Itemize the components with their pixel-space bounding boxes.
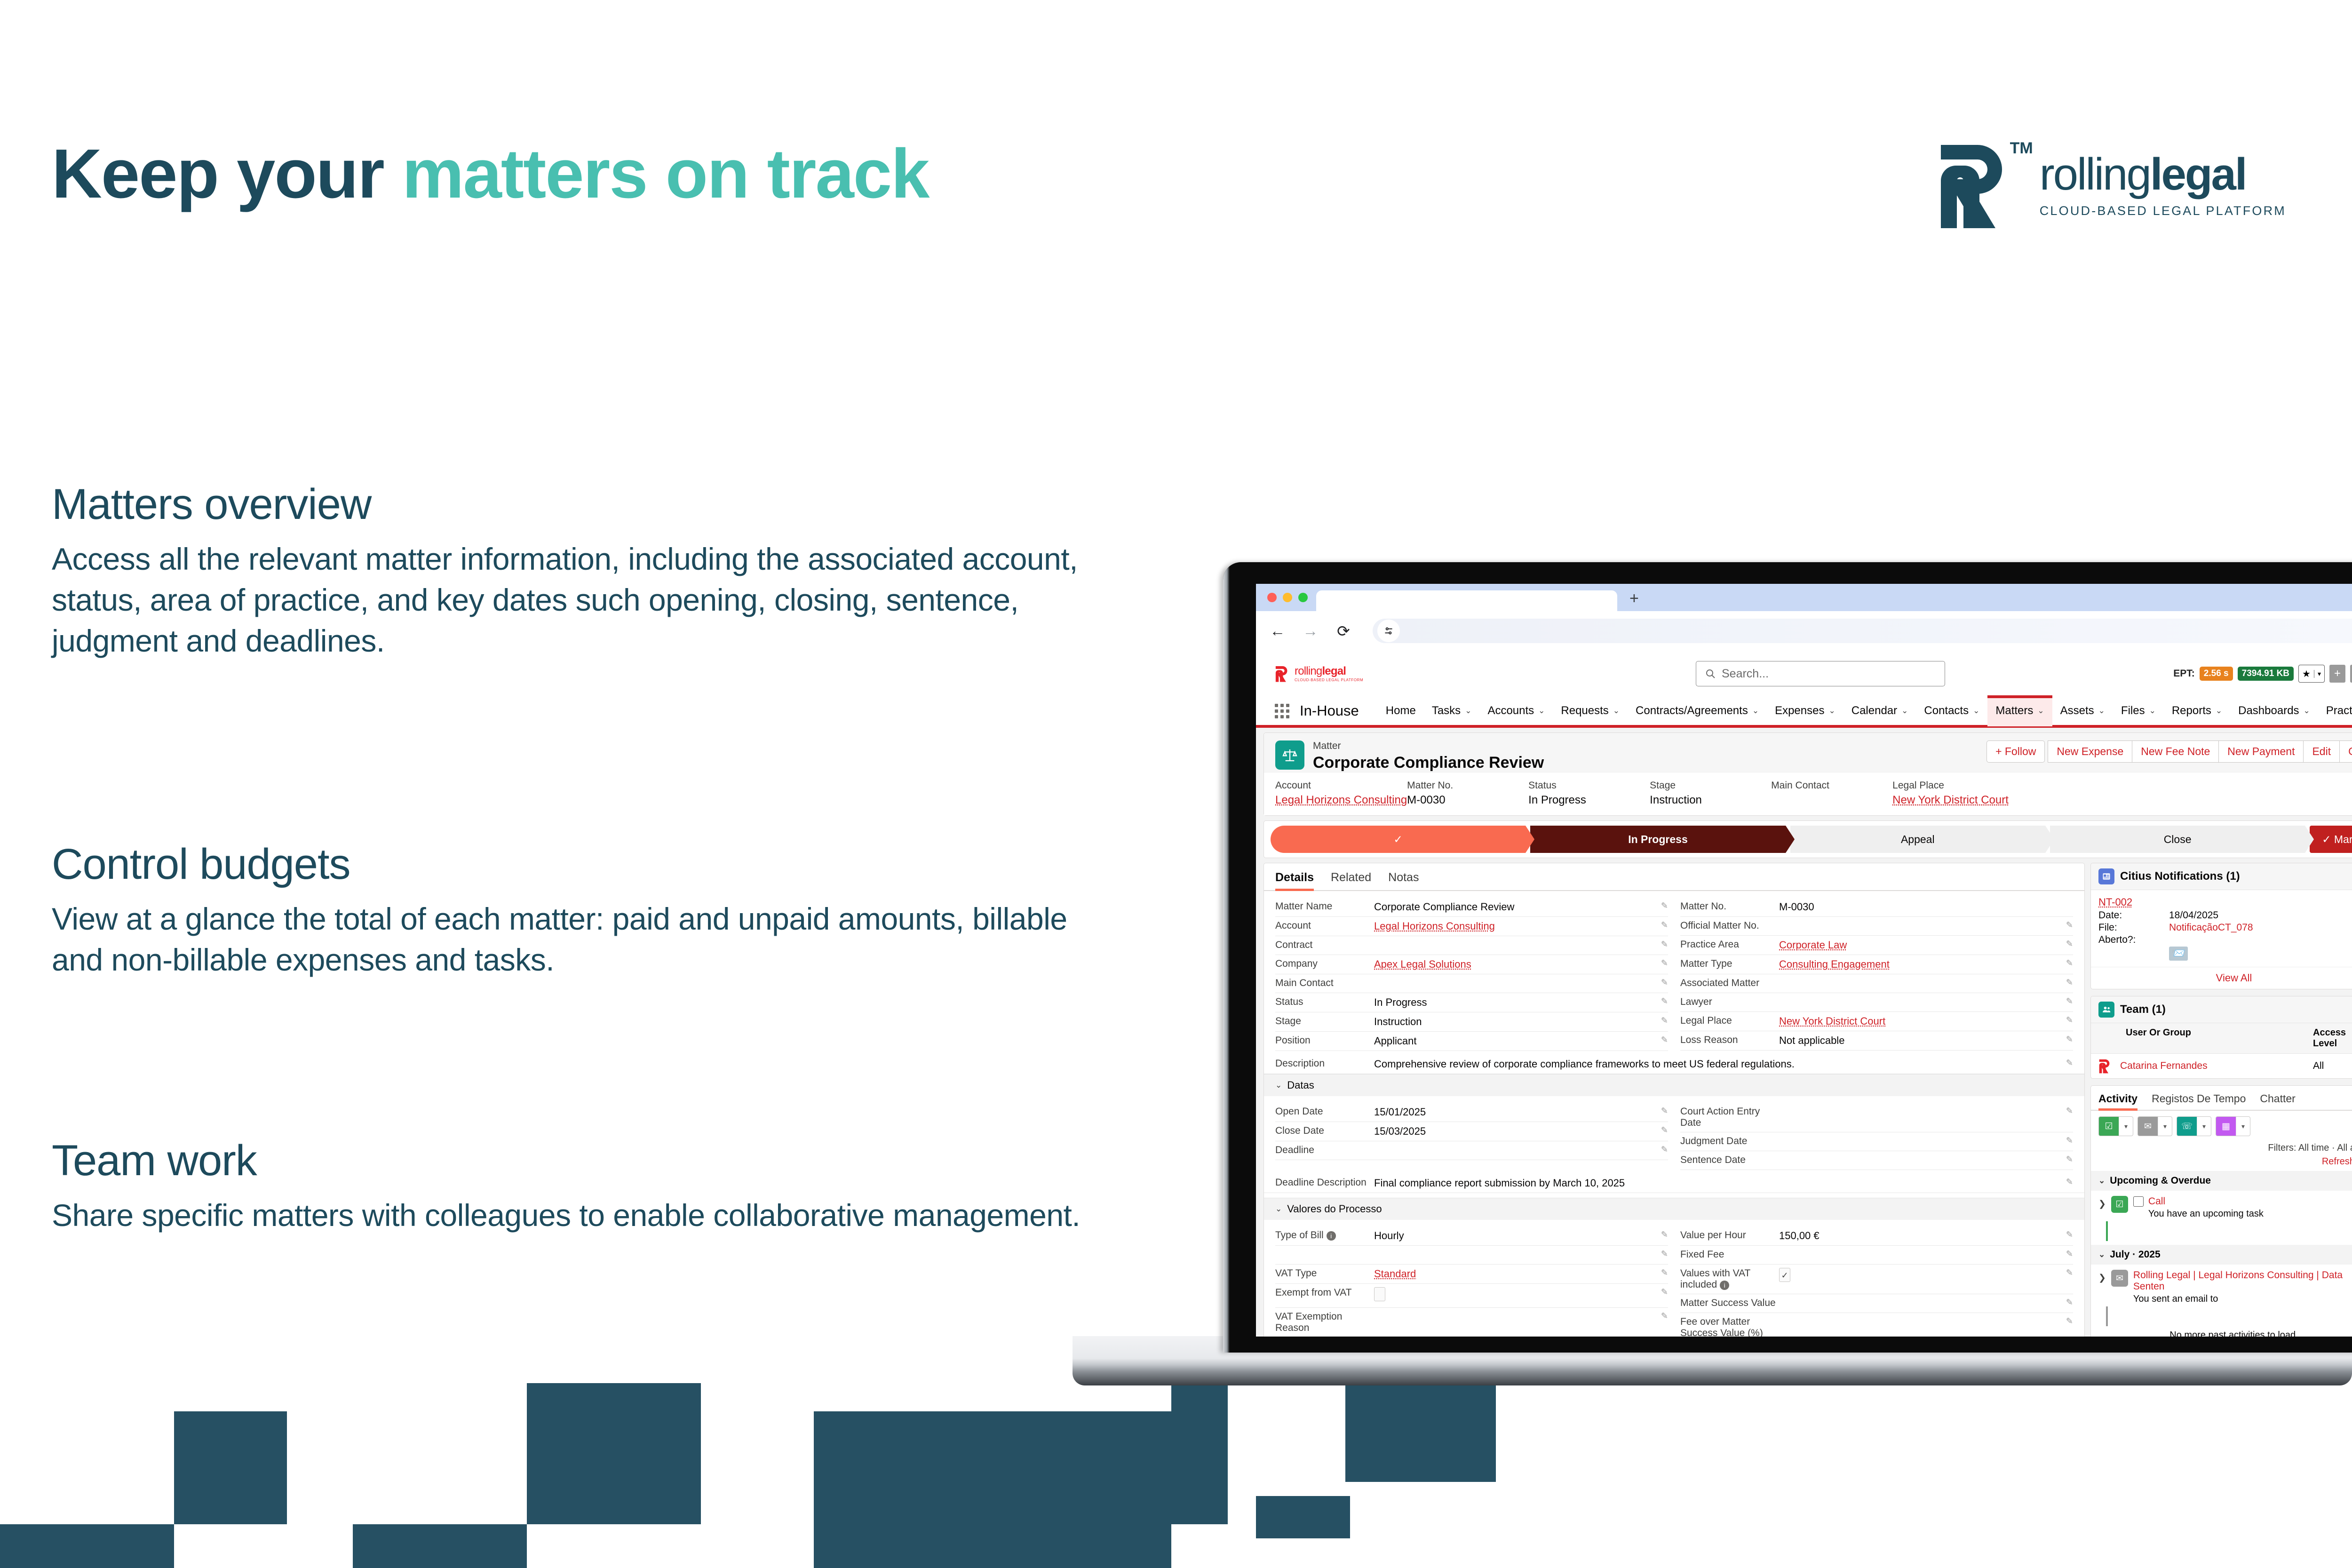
activity-title[interactable]: Call <box>2148 1196 2165 1207</box>
logo-word-bold: legal <box>2150 149 2246 199</box>
field-label: VAT Type <box>1275 1268 1374 1279</box>
nav-item-label: Requests <box>1561 704 1608 717</box>
citius-notifications-card: Citius Notifications (1) NT-002 Date:18/… <box>2090 863 2352 989</box>
ept-time-badge: 2.56 s <box>2200 667 2233 681</box>
activity-tab-activity[interactable]: Activity <box>2098 1092 2137 1110</box>
nav-item-label: Tasks <box>1432 704 1461 717</box>
path-step-appeal[interactable]: Appeal <box>1790 826 2045 853</box>
feature-block-control-budgets: Control budgets View at a glance the tot… <box>52 840 1101 980</box>
field-row: Matter No.M-0030 <box>1680 898 2073 917</box>
back-icon[interactable]: ← <box>1269 622 1286 640</box>
tab-details[interactable]: Details <box>1275 871 1314 890</box>
nav-item-label: Accounts <box>1487 704 1534 717</box>
edit-pencil-icon[interactable]: ✎ <box>2064 1058 2073 1070</box>
field-row: Matter Success Value✎ <box>1680 1294 2073 1313</box>
laptop-screen: + ← → ⟳ <box>1223 562 2352 1353</box>
header-field: StageInstruction <box>1650 780 1771 807</box>
activity-list-item[interactable]: ❯ ☑ Call You have an upcoming task <box>2091 1191 2352 1221</box>
description-row: Description Comprehensive review of corp… <box>1264 1055 2084 1074</box>
info-icon[interactable]: i <box>1720 1281 1729 1290</box>
edit-pencil-icon[interactable]: ✎ <box>1659 901 1668 911</box>
activity-timeline-line <box>2106 1221 2108 1241</box>
field-label: Matter Success Value <box>1680 1297 1779 1309</box>
nav-item-matters[interactable]: Matters⌄ <box>1987 695 2052 726</box>
header-field-label: Main Contact <box>1771 780 1892 791</box>
url-input[interactable] <box>1373 619 2352 643</box>
global-search-input[interactable]: Search... <box>1696 661 1945 686</box>
activity-subtitle: You have an upcoming task <box>2148 1209 2352 1219</box>
feature-block-matters-overview: Matters overview Access all the relevant… <box>52 480 1101 661</box>
citius-view-all-link[interactable]: View All <box>2091 967 2352 989</box>
section-header-values[interactable]: ⌄ Valores do Processo <box>1264 1198 2084 1220</box>
path-step--[interactable]: ✓ <box>1271 826 1526 853</box>
browser-urlbar: ← → ⟳ <box>1256 611 2352 651</box>
team-card: Team (1) User Or Group Access Level Cata… <box>2090 996 2352 1079</box>
app-logo-word-bold: legal <box>1322 665 1346 677</box>
nav-item-contacts[interactable]: Contacts⌄ <box>1916 695 1987 726</box>
field-value: In Progress <box>1374 996 1659 1009</box>
app-logo-tagline: CLOUD-BASED LEGAL PLATFORM <box>1295 678 1363 682</box>
nav-item-home[interactable]: Home <box>1378 695 1424 726</box>
action-new-fee-note[interactable]: New Fee Note <box>2132 740 2218 763</box>
dates-right-column: Court Action Entry Date✎Judgment Date✎Se… <box>1680 1103 2073 1170</box>
close-window-dot[interactable] <box>1267 593 1277 602</box>
field-checkbox[interactable]: ✓ <box>1779 1268 1790 1282</box>
action-new-payment[interactable]: New Payment <box>2218 740 2303 763</box>
edit-pencil-icon[interactable]: ✎ <box>1659 1035 1668 1045</box>
edit-pencil-icon[interactable]: ✎ <box>1659 1145 1668 1154</box>
field-label: Close Date <box>1275 1125 1374 1137</box>
feature-body: Share specific matters with colleagues t… <box>52 1195 1101 1236</box>
new-task-button[interactable]: ☑▾ <box>2098 1116 2133 1136</box>
field-row: ✎ <box>1275 1246 1668 1265</box>
logo-word-light: rolling <box>2040 149 2150 199</box>
edit-pencil-icon[interactable]: ✎ <box>1659 1268 1668 1278</box>
chevron-down-icon[interactable]: ▾ <box>2119 1116 2133 1136</box>
field-label: Value per Hour <box>1680 1230 1779 1241</box>
edit-pencil-icon[interactable]: ✎ <box>2064 1249 2073 1259</box>
edit-pencil-icon[interactable]: ✎ <box>1659 958 1668 968</box>
action-edit[interactable]: Edit <box>2303 740 2339 763</box>
chevron-down-icon[interactable]: ⌄ <box>1538 706 1545 716</box>
app-navigation: In-House HomeTasks⌄Accounts⌄Requests⌄Con… <box>1256 697 2352 728</box>
task-checkbox[interactable] <box>2133 1196 2144 1207</box>
field-value[interactable]: New York District Court <box>1779 1015 2064 1027</box>
edit-pencil-icon[interactable]: ✎ <box>2064 1015 2073 1025</box>
field-row: Lawyer✎ <box>1680 993 2073 1012</box>
header-field-label: Matter No. <box>1407 780 1528 791</box>
app-logo[interactable]: rollinglegal CLOUD-BASED LEGAL PLATFORM <box>1275 665 1363 682</box>
activity-refresh-link[interactable]: Refresh · E <box>2091 1154 2352 1171</box>
minimize-window-dot[interactable] <box>1283 593 1292 602</box>
edit-pencil-icon[interactable]: ✎ <box>1659 1016 1668 1026</box>
decor-square-4 <box>527 1383 701 1524</box>
notification-key: File: <box>2098 922 2169 933</box>
tab-related[interactable]: Related <box>1331 871 1371 890</box>
edit-pencil-icon[interactable]: ✎ <box>2064 939 2073 949</box>
field-value[interactable]: Legal Horizons Consulting <box>1374 920 1659 932</box>
activity-tab-chatter[interactable]: Chatter <box>2260 1092 2295 1110</box>
maximize-window-dot[interactable] <box>1298 593 1308 602</box>
activity-group-title: Upcoming & Overdue <box>2110 1175 2211 1186</box>
team-icon <box>2098 1002 2114 1018</box>
header-field: Legal PlaceNew York District Court <box>1892 780 2014 807</box>
new-event-button[interactable]: ▦▾ <box>2216 1116 2250 1136</box>
field-row: PositionApplicant✎ <box>1275 1032 1668 1051</box>
activity-title[interactable]: Rolling Legal | Legal Horizons Consultin… <box>2133 1270 2352 1292</box>
activity-list-item[interactable]: ❯ ✉ Rolling Legal | Legal Horizons Consu… <box>2091 1265 2352 1306</box>
field-label: Court Action Entry Date <box>1680 1106 1779 1129</box>
headline-teal: matters on track <box>402 135 929 213</box>
field-row: Practice AreaCorporate Law✎ <box>1680 936 2073 955</box>
edit-pencil-icon[interactable]: ✎ <box>2064 920 2073 930</box>
team-col-access: Access Level <box>2313 1027 2352 1049</box>
activity-tab-registos-de-tempo[interactable]: Registos De Tempo <box>2152 1092 2246 1110</box>
decor-square-7 <box>1345 1383 1496 1482</box>
notification-icon <box>2098 868 2114 884</box>
nav-item-requests[interactable]: Requests⌄ <box>1553 695 1628 726</box>
record-sidebar: Citius Notifications (1) NT-002 Date:18/… <box>2090 863 2352 1337</box>
logo-tagline: CLOUD-BASED LEGAL PLATFORM <box>2040 205 2286 217</box>
field-label: Legal Place <box>1680 1015 1779 1027</box>
nav-item-label: Calendar <box>1851 704 1897 717</box>
chevron-down-icon[interactable]: ⌄ <box>2216 706 2222 716</box>
field-label: Matter Name <box>1275 901 1374 912</box>
description-value: Comprehensive review of corporate compli… <box>1374 1058 2064 1070</box>
field-row: Exempt from VAT✎ <box>1275 1284 1668 1308</box>
field-row: StatusIn Progress✎ <box>1275 993 1668 1012</box>
nav-item-practice-areas[interactable]: Practice Areas⌄ <box>2318 695 2352 726</box>
chevron-down-icon[interactable]: ⌄ <box>2098 706 2105 716</box>
field-row: VAT Exemption Reason✎ <box>1275 1308 1668 1337</box>
new-tab-icon[interactable]: + <box>1629 590 1639 606</box>
header-field-value: In Progress <box>1528 794 1650 807</box>
field-row: Legal PlaceNew York District Court✎ <box>1680 1012 2073 1031</box>
field-value: Instruction <box>1374 1016 1659 1028</box>
field-value[interactable]: Standard <box>1374 1268 1659 1280</box>
path-step-close[interactable]: Close <box>2050 826 2305 853</box>
activity-card: ActivityRegistos De TempoChatter ☑▾ ✉▾ ☏… <box>2090 1085 2352 1337</box>
field-value[interactable]: Corporate Law <box>1779 939 2064 951</box>
deadline-description-value: Final compliance report submission by Ma… <box>1374 1177 2064 1189</box>
chevron-down-icon[interactable]: ▾ <box>2158 1116 2172 1136</box>
team-card-title: Team (1) <box>2120 1003 2166 1016</box>
field-label: Open Date <box>1275 1106 1374 1117</box>
edit-pencil-icon[interactable]: ✎ <box>1659 1230 1668 1240</box>
chevron-down-icon[interactable]: ▾ <box>2236 1116 2250 1136</box>
field-value: 15/03/2025 <box>1374 1125 1659 1138</box>
task-icon: ☑ <box>2099 1116 2119 1136</box>
chevron-down-icon[interactable]: ⌄ <box>1752 706 1759 716</box>
field-row: Value per Hour150,00 €✎ <box>1680 1226 2073 1246</box>
matter-header-fields: AccountLegal Horizons ConsultingMatter N… <box>1264 772 2352 815</box>
edit-pencil-icon[interactable]: ✎ <box>2064 1154 2073 1164</box>
matter-entity-icon <box>1275 740 1304 770</box>
citius-card-title: Citius Notifications (1) <box>2120 870 2240 883</box>
site-settings-icon[interactable] <box>1377 620 1400 642</box>
field-row: Main Contact✎ <box>1275 974 1668 993</box>
field-label: Judgment Date <box>1680 1136 1779 1147</box>
chevron-down-icon[interactable]: ⌄ <box>1973 706 1979 716</box>
edit-pencil-icon[interactable]: ✎ <box>1659 1287 1668 1297</box>
activity-timeline-line <box>2106 1306 2108 1326</box>
table-row: Catarina FernandesAll <box>2091 1054 2352 1078</box>
field-checkbox[interactable] <box>1374 1287 1385 1301</box>
decor-square-5 <box>814 1411 1171 1568</box>
header-field: StatusIn Progress <box>1528 780 1650 807</box>
edit-pencil-icon[interactable]: ✎ <box>1659 939 1668 949</box>
chevron-down-icon[interactable]: ⌄ <box>2149 706 2156 716</box>
call-icon: ☏ <box>2177 1116 2197 1136</box>
headline-dark: Keep your <box>52 135 402 213</box>
edit-pencil-icon[interactable]: ✎ <box>1659 1125 1668 1135</box>
edit-pencil-icon[interactable]: ✎ <box>2064 996 2073 1006</box>
field-label: Matter No. <box>1680 901 1779 912</box>
field-value <box>1374 1287 1659 1304</box>
details-panel: DetailsRelatedNotas Matter NameCorporate… <box>1263 863 2085 1337</box>
field-row: Deadline✎ <box>1275 1141 1668 1160</box>
header-field-value[interactable]: Legal Horizons Consulting <box>1275 794 1407 807</box>
chevron-down-icon: ⌄ <box>2098 1250 2105 1259</box>
chevron-down-icon[interactable]: ⌄ <box>1828 706 1835 716</box>
field-value: Applicant <box>1374 1035 1659 1047</box>
matter-header: Matter Corporate Compliance Review + Fol… <box>1264 733 2352 772</box>
chevron-down-icon[interactable]: ⌄ <box>1613 706 1620 716</box>
header-field: Matter No.M-0030 <box>1407 780 1528 807</box>
edit-pencil-icon[interactable]: ✎ <box>2064 1106 2073 1116</box>
nav-item-expenses[interactable]: Expenses⌄ <box>1767 695 1843 726</box>
page-title: Keep your matters on track <box>52 134 929 214</box>
edit-pencil-icon[interactable]: ✎ <box>2064 978 2073 987</box>
record-type-label: Matter <box>1313 740 1544 752</box>
nav-item-contracts-agreements[interactable]: Contracts/Agreements⌄ <box>1628 695 1767 726</box>
activity-group-header[interactable]: ⌄ July · 2025 <box>2091 1245 2352 1265</box>
feature-block-team-work: Team work Share specific matters with co… <box>52 1136 1101 1236</box>
info-icon[interactable]: i <box>1327 1231 1336 1241</box>
header-field-value[interactable]: New York District Court <box>1892 794 2014 807</box>
feature-title: Team work <box>52 1136 1101 1186</box>
decor-square-3 <box>353 1524 527 1568</box>
email-icon: ✉ <box>2138 1116 2158 1136</box>
nav-item-calendar[interactable]: Calendar⌄ <box>1843 695 1916 726</box>
nav-item-label: Home <box>1386 704 1416 717</box>
field-label: Contract <box>1275 939 1374 951</box>
browser-tabbar: + <box>1256 584 2352 611</box>
field-row: Close Date15/03/2025✎ <box>1275 1122 1668 1141</box>
record-body: DetailsRelatedNotas Matter NameCorporate… <box>1263 863 2352 1337</box>
field-row: Fee over Matter Success Value (%)✎ <box>1680 1313 2073 1337</box>
team-member-name[interactable]: Catarina Fernandes <box>2120 1060 2208 1072</box>
search-icon <box>1705 668 1716 679</box>
team-col-user: User Or Group <box>2098 1027 2313 1049</box>
field-label: Values with VAT includedi <box>1680 1268 1779 1290</box>
chevron-down-icon: ⌄ <box>1275 1081 1282 1090</box>
field-row: StageInstruction✎ <box>1275 1012 1668 1032</box>
action-g[interactable]: G <box>2339 740 2352 763</box>
field-label: Sentence Date <box>1680 1154 1779 1166</box>
field-label: VAT Exemption Reason <box>1275 1311 1374 1334</box>
details-right-column: Matter No.M-0030Official Matter No.✎Prac… <box>1680 898 2073 1051</box>
edit-pencil-icon[interactable]: ✎ <box>1659 920 1668 930</box>
field-row: CompanyApex Legal Solutions✎ <box>1275 955 1668 974</box>
nav-item-dashboards[interactable]: Dashboards⌄ <box>2230 695 2318 726</box>
field-row: Open Date15/01/2025✎ <box>1275 1103 1668 1122</box>
add-button[interactable]: + <box>2329 665 2345 683</box>
notification-row: Date:18/04/2025 <box>2098 910 2352 921</box>
edit-pencil-icon[interactable]: ✎ <box>2064 1136 2073 1146</box>
record-title: Corporate Compliance Review <box>1313 754 1544 772</box>
notification-value[interactable]: NotificaçãoCT_078 <box>2169 922 2253 933</box>
field-row: Sentence Date✎ <box>1680 1151 2073 1170</box>
browser-tab[interactable] <box>1316 590 1617 611</box>
reload-icon[interactable]: ⟳ <box>1335 622 1352 640</box>
citius-card-header: Citius Notifications (1) <box>2091 863 2352 890</box>
activity-subtitle: You sent an email to <box>2133 1294 2352 1305</box>
feature-body: Access all the relevant matter informati… <box>52 539 1101 661</box>
header-right-tools: EPT: 2.56 s 7394.91 KB ★▾ + ▲ <box>2173 665 2352 683</box>
chevron-down-icon[interactable]: ▾ <box>2197 1116 2211 1136</box>
forward-icon[interactable]: → <box>1302 622 1319 640</box>
action--follow[interactable]: + Follow <box>1986 740 2045 763</box>
app-launcher-icon[interactable] <box>1275 704 1289 718</box>
edit-pencil-icon[interactable]: ✎ <box>2064 1268 2073 1278</box>
nav-item-files[interactable]: Files⌄ <box>2113 695 2164 726</box>
mark-stage-button[interactable]: ✓ Mark <box>2310 826 2352 853</box>
nav-item-label: Practice Areas <box>2326 704 2352 717</box>
field-label: Company <box>1275 958 1374 970</box>
field-label: Stage <box>1275 1016 1374 1027</box>
field-value[interactable]: Consulting Engagement <box>1779 958 2064 971</box>
nav-item-label: Contracts/Agreements <box>1636 704 1748 717</box>
open-envelope-icon: 📨 <box>2169 947 2188 961</box>
header-field-label: Account <box>1275 780 1407 791</box>
laptop-mockup: + ← → ⟳ <box>1223 562 2352 1353</box>
field-row: AccountLegal Horizons Consulting✎ <box>1275 917 1668 936</box>
nav-item-label: Matters <box>1995 704 2033 717</box>
edit-pencil-icon[interactable]: ✎ <box>2064 958 2073 968</box>
decor-square-8 <box>1256 1496 1350 1538</box>
notification-key: Aberto?: <box>2098 934 2169 946</box>
field-label: Official Matter No. <box>1680 920 1779 931</box>
team-card-header: Team (1) <box>2091 996 2352 1023</box>
chevron-down-icon[interactable]: ⌄ <box>1465 706 1471 716</box>
activity-group-header[interactable]: ⌄ Upcoming & Overdue <box>2091 1171 2352 1191</box>
log-call-button[interactable]: ☏▾ <box>2177 1116 2211 1136</box>
header-field-value: Instruction <box>1650 794 1771 807</box>
field-label: Deadline <box>1275 1145 1374 1156</box>
nav-item-label: Reports <box>2172 704 2211 717</box>
activity-no-more-label: No more past activities to load. <box>2091 1326 2352 1337</box>
activity-group-title: July · 2025 <box>2110 1249 2160 1260</box>
team-table-header: User Or Group Access Level <box>2091 1023 2352 1054</box>
chevron-down-icon[interactable]: ⌄ <box>2037 706 2044 716</box>
notification-value: 18/04/2025 <box>2169 910 2218 921</box>
ept-label: EPT: <box>2173 668 2195 679</box>
section-header-dates[interactable]: ⌄ Datas <box>1264 1074 2084 1096</box>
app-logo-word-light: rolling <box>1295 665 1322 677</box>
star-icon: ★ <box>2299 668 2314 680</box>
edit-pencil-icon[interactable]: ✎ <box>1659 978 1668 987</box>
nav-item-accounts[interactable]: Accounts⌄ <box>1479 695 1553 726</box>
favorite-button[interactable]: ★▾ <box>2298 665 2325 683</box>
edit-pencil-icon[interactable]: ✎ <box>1659 1106 1668 1116</box>
browser-window: + ← → ⟳ <box>1256 584 2352 1337</box>
field-value[interactable]: Apex Legal Solutions <box>1374 958 1659 971</box>
field-row: Values with VAT includedi✓✎ <box>1680 1265 2073 1294</box>
nav-item-label: Assets <box>2060 704 2094 717</box>
field-row: Judgment Date✎ <box>1680 1132 2073 1151</box>
field-value: 150,00 € <box>1779 1230 2064 1242</box>
event-icon: ▦ <box>2216 1116 2236 1136</box>
detail-tabs: DetailsRelatedNotas <box>1264 863 2084 891</box>
section-title: Datas <box>1287 1079 1314 1091</box>
chevron-down-icon[interactable]: ▾ <box>2314 670 2324 678</box>
chevron-right-icon[interactable]: ❯ <box>2098 1196 2106 1210</box>
header-field-label: Stage <box>1650 780 1771 791</box>
field-row: Associated Matter✎ <box>1680 974 2073 993</box>
details-grid: Matter NameCorporate Compliance Review✎A… <box>1264 891 2084 1055</box>
activity-action-buttons: ☑▾ ✉▾ ☏▾ ▦▾ <box>2091 1111 2352 1142</box>
chevron-down-icon[interactable]: ⌄ <box>1901 706 1908 716</box>
deadline-description-label: Deadline Description <box>1275 1177 1374 1189</box>
nav-item-label: Expenses <box>1775 704 1824 717</box>
field-label: Exempt from VAT <box>1275 1287 1374 1298</box>
field-row: Fixed Fee✎ <box>1680 1246 2073 1265</box>
field-label: Associated Matter <box>1680 978 1779 989</box>
search-placeholder-text: Search... <box>1722 667 1769 681</box>
field-row: Court Action Entry Date✎ <box>1680 1103 2073 1132</box>
field-row: Matter NameCorporate Compliance Review✎ <box>1275 898 1668 917</box>
notification-record-id[interactable]: NT-002 <box>2098 896 2352 908</box>
new-email-button[interactable]: ✉▾ <box>2137 1116 2172 1136</box>
section-title: Valores do Processo <box>1287 1203 1382 1215</box>
window-controls[interactable] <box>1267 584 1308 611</box>
notifications-icon[interactable]: ▲ <box>2350 665 2352 683</box>
edit-pencil-icon[interactable]: ✎ <box>2064 1230 2073 1240</box>
app-header: rollinglegal CLOUD-BASED LEGAL PLATFORM … <box>1256 651 2352 697</box>
edit-pencil-icon[interactable]: ✎ <box>1659 996 1668 1006</box>
header-field-label: Status <box>1528 780 1650 791</box>
edit-pencil-icon[interactable]: ✎ <box>2064 1177 2073 1189</box>
nav-item-tasks[interactable]: Tasks⌄ <box>1424 695 1480 726</box>
field-value: Corporate Compliance Review <box>1374 901 1659 913</box>
chevron-down-icon[interactable]: ⌄ <box>2304 706 2310 716</box>
nav-item-reports[interactable]: Reports⌄ <box>2164 695 2230 726</box>
edit-pencil-icon[interactable]: ✎ <box>1659 1249 1668 1259</box>
rollinglegal-mark-small-icon <box>1275 665 1291 682</box>
values-left-column: Type of BilliHourly✎✎VAT TypeStandard✎Ex… <box>1275 1226 1668 1337</box>
dates-left-column: Open Date15/01/2025✎Close Date15/03/2025… <box>1275 1103 1668 1170</box>
field-row: Contract✎ <box>1275 936 1668 955</box>
edit-pencil-icon[interactable]: ✎ <box>2064 1035 2073 1044</box>
nav-item-assets[interactable]: Assets⌄ <box>2052 695 2113 726</box>
action-new-expense[interactable]: New Expense <box>2048 740 2132 763</box>
avatar <box>2098 1059 2113 1074</box>
edit-pencil-icon[interactable]: ✎ <box>1659 1311 1668 1321</box>
edit-pencil-icon[interactable]: ✎ <box>2064 1297 2073 1307</box>
edit-pencil-icon[interactable]: ✎ <box>2064 1316 2073 1326</box>
notification-key: Date: <box>2098 910 2169 921</box>
field-label: Main Contact <box>1275 978 1374 989</box>
deadline-description-row: Deadline Description Final compliance re… <box>1264 1174 2084 1193</box>
rollinglegal-mark-icon: TM <box>1936 141 2021 228</box>
values-right-column: Value per Hour150,00 €✎Fixed Fee✎Values … <box>1680 1226 2073 1337</box>
chevron-right-icon[interactable]: ❯ <box>2098 1270 2106 1283</box>
app-name-label: In-House <box>1300 702 1359 719</box>
header-field-value: M-0030 <box>1407 794 1528 807</box>
tab-notas[interactable]: Notas <box>1388 871 1419 890</box>
path-step-in-progress[interactable]: In Progress <box>1530 826 1785 853</box>
